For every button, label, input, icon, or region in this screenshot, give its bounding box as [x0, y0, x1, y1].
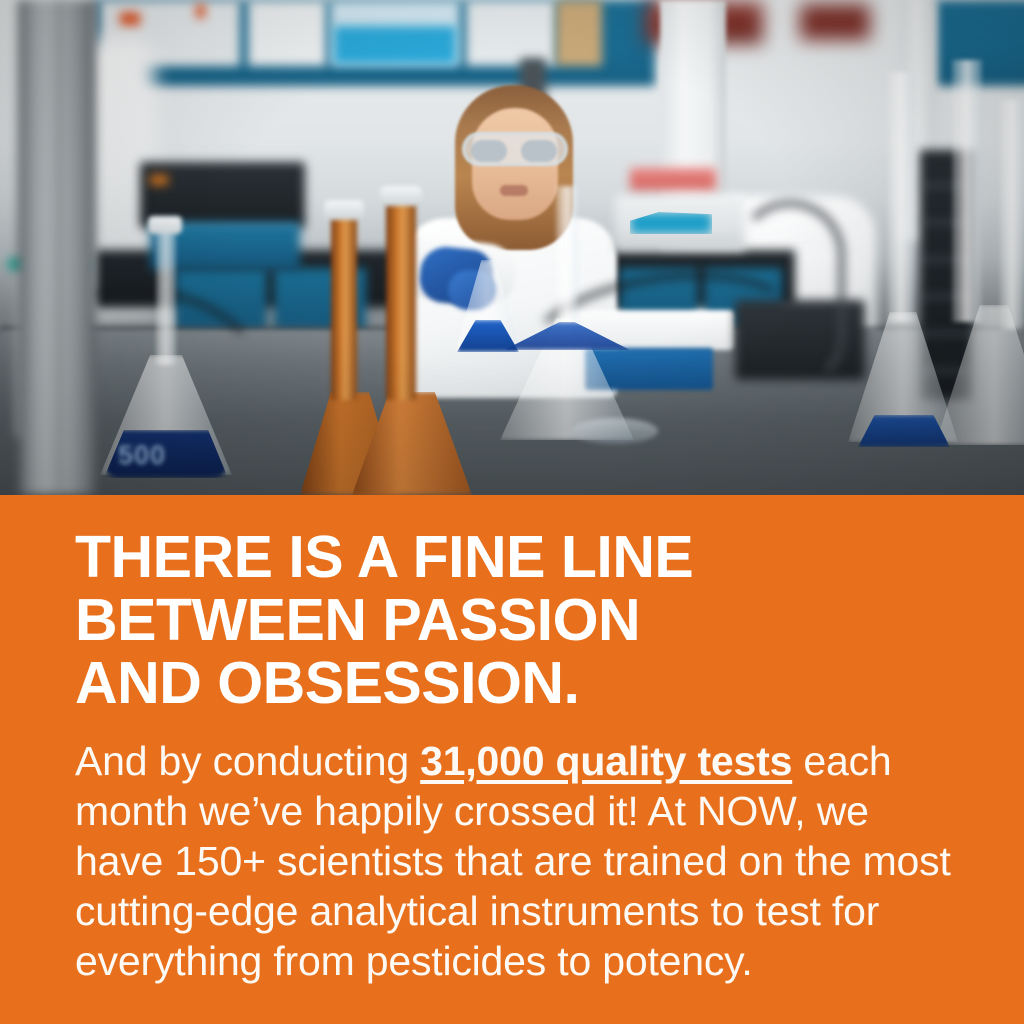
body-copy: And by conducting 31,000 quality tests e… — [75, 736, 955, 986]
page-title: THERE IS A FINE LINE BETWEEN PASSION AND… — [75, 526, 975, 715]
body-copy-pre: And by conducting — [75, 738, 420, 784]
lab-photo: 500 — [0, 0, 1024, 495]
headline-line-3: AND OBSESSION. — [75, 652, 975, 715]
headline-line-1: THERE IS A FINE LINE — [75, 526, 975, 589]
photo-vignette — [0, 0, 1024, 495]
headline-line-2: BETWEEN PASSION — [75, 589, 975, 652]
marketing-card: 500 THERE IS A FINE LINE BETWEEN PASSION… — [0, 0, 1024, 1024]
stat-highlight: 31,000 quality tests — [420, 738, 792, 784]
